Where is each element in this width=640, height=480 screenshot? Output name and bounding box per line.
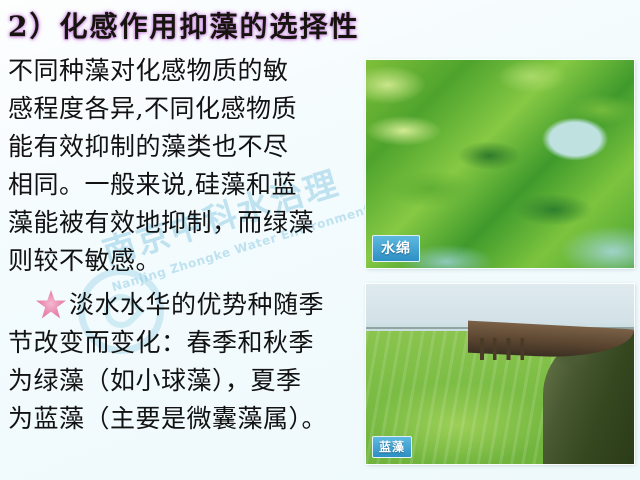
slide-canvas: 南京中科水治理 Nanjing Zhongke Water Environmen… [0, 0, 640, 480]
paragraph1-line-1: 不同种藻对化感物质的敏 [8, 52, 360, 90]
spirogyra-photo: 股份有限公司 水绵 [366, 60, 634, 268]
star-bullet-icon [36, 290, 66, 320]
paragraph2-line-1-text: 淡水水华的优势种随季 [69, 286, 324, 324]
spirogyra-photo-caption: 水绵 [372, 235, 420, 262]
paragraph1-line-4: 相同。一般来说,硅藻和蓝 [8, 166, 360, 204]
pier-pilings [476, 338, 530, 360]
paragraph1-line-6: 则较不敏感。 [8, 242, 360, 280]
paragraph2-line-3: 为绿藻（如小球藻），夏季 [8, 362, 360, 400]
paragraph2-line-2: 节改变而变化：春季和秋季 [8, 324, 360, 362]
cyanobacteria-photo: 蓝藻 [366, 284, 634, 464]
cyanobacteria-photo-caption: 蓝藻 [372, 436, 412, 458]
body-text-column: 不同种藻对化感物质的敏 感程度各异,不同化感物质 能有效抑制的藻类也不尽 相同。… [8, 52, 360, 438]
paragraph1-line-2: 感程度各异,不同化感物质 [8, 90, 360, 128]
paragraph1-line-5: 藻能被有效地抑制，而绿藻 [8, 204, 360, 242]
paragraph2-line-4: 为蓝藻（主要是微囊藻属）。 [8, 400, 360, 438]
page-title: 2）化感作用抑藻的选择性 [8, 5, 359, 45]
paragraph1-line-3: 能有效抑制的藻类也不尽 [8, 128, 360, 166]
paragraph2-line-1: 淡水水华的优势种随季 [8, 286, 360, 324]
